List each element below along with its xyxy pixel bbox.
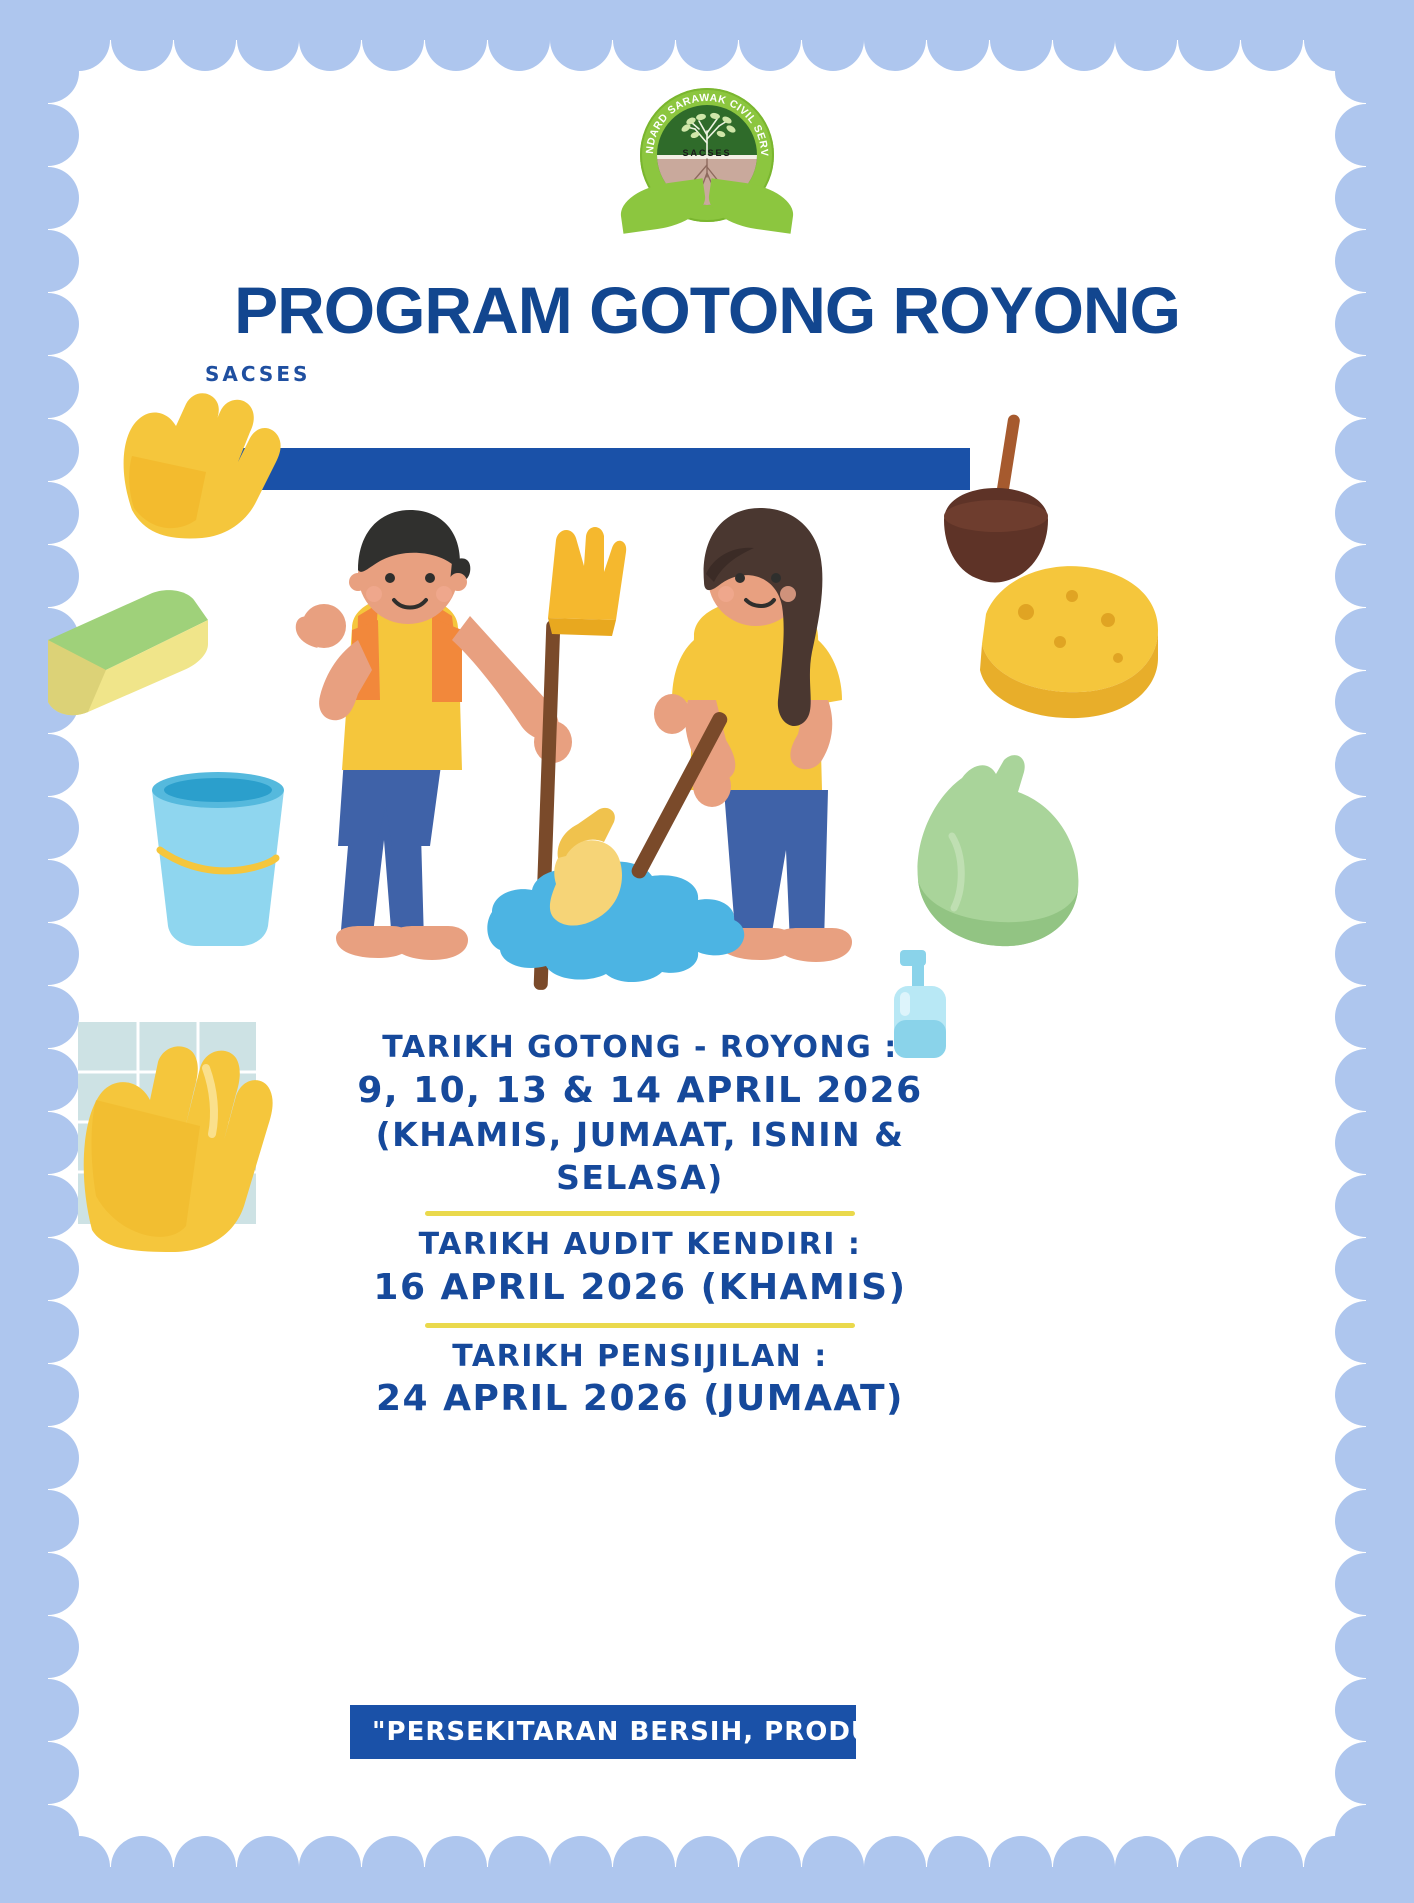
divider-rule-2 (425, 1323, 855, 1328)
date-label-audit-kendiri: TARIKH AUDIT KENDIRI : (300, 1225, 980, 1265)
slogan-banner: "PERSEKITARAN BERSIH, PRODUKTIVITI MENIN… (350, 1705, 856, 1759)
toilet-plunger-right-icon (944, 414, 1048, 583)
date-value-audit-kendiri: 16 APRIL 2026 (KHAMIS) (300, 1265, 980, 1312)
garbage-bag-right-icon (917, 755, 1078, 946)
date-value-pensijilan: 24 APRIL 2026 (JUMAAT) (300, 1376, 980, 1423)
illustration-layer (0, 0, 1414, 1903)
slogan-text: "PERSEKITARAN BERSIH, PRODUKTIVITI MENIN… (350, 1705, 856, 1759)
date-label-gotong-royong: TARIKH GOTONG - ROYONG : (300, 1028, 980, 1068)
green-sponge-left-icon (48, 590, 208, 715)
blue-bucket-left-icon (152, 772, 284, 946)
yellow-sponge-right-icon (980, 566, 1158, 718)
date-days-gotong-royong: (KHAMIS, JUMAAT, ISNIN & SELASA) (300, 1114, 980, 1200)
poster-canvas: STANDARD SARAWAK CIVIL SERVICE ENVIRONME… (0, 0, 1414, 1903)
divider-rule-1 (425, 1211, 855, 1216)
yellow-glove-top-left-icon (124, 393, 281, 538)
yellow-glove-bottom-left-icon (78, 1022, 273, 1252)
date-value-gotong-royong: 9, 10, 13 & 14 APRIL 2026 (300, 1068, 980, 1115)
dates-block: TARIKH GOTONG - ROYONG : 9, 10, 13 & 14 … (300, 1028, 980, 1423)
date-label-pensijilan: TARIKH PENSIJILAN : (300, 1337, 980, 1377)
